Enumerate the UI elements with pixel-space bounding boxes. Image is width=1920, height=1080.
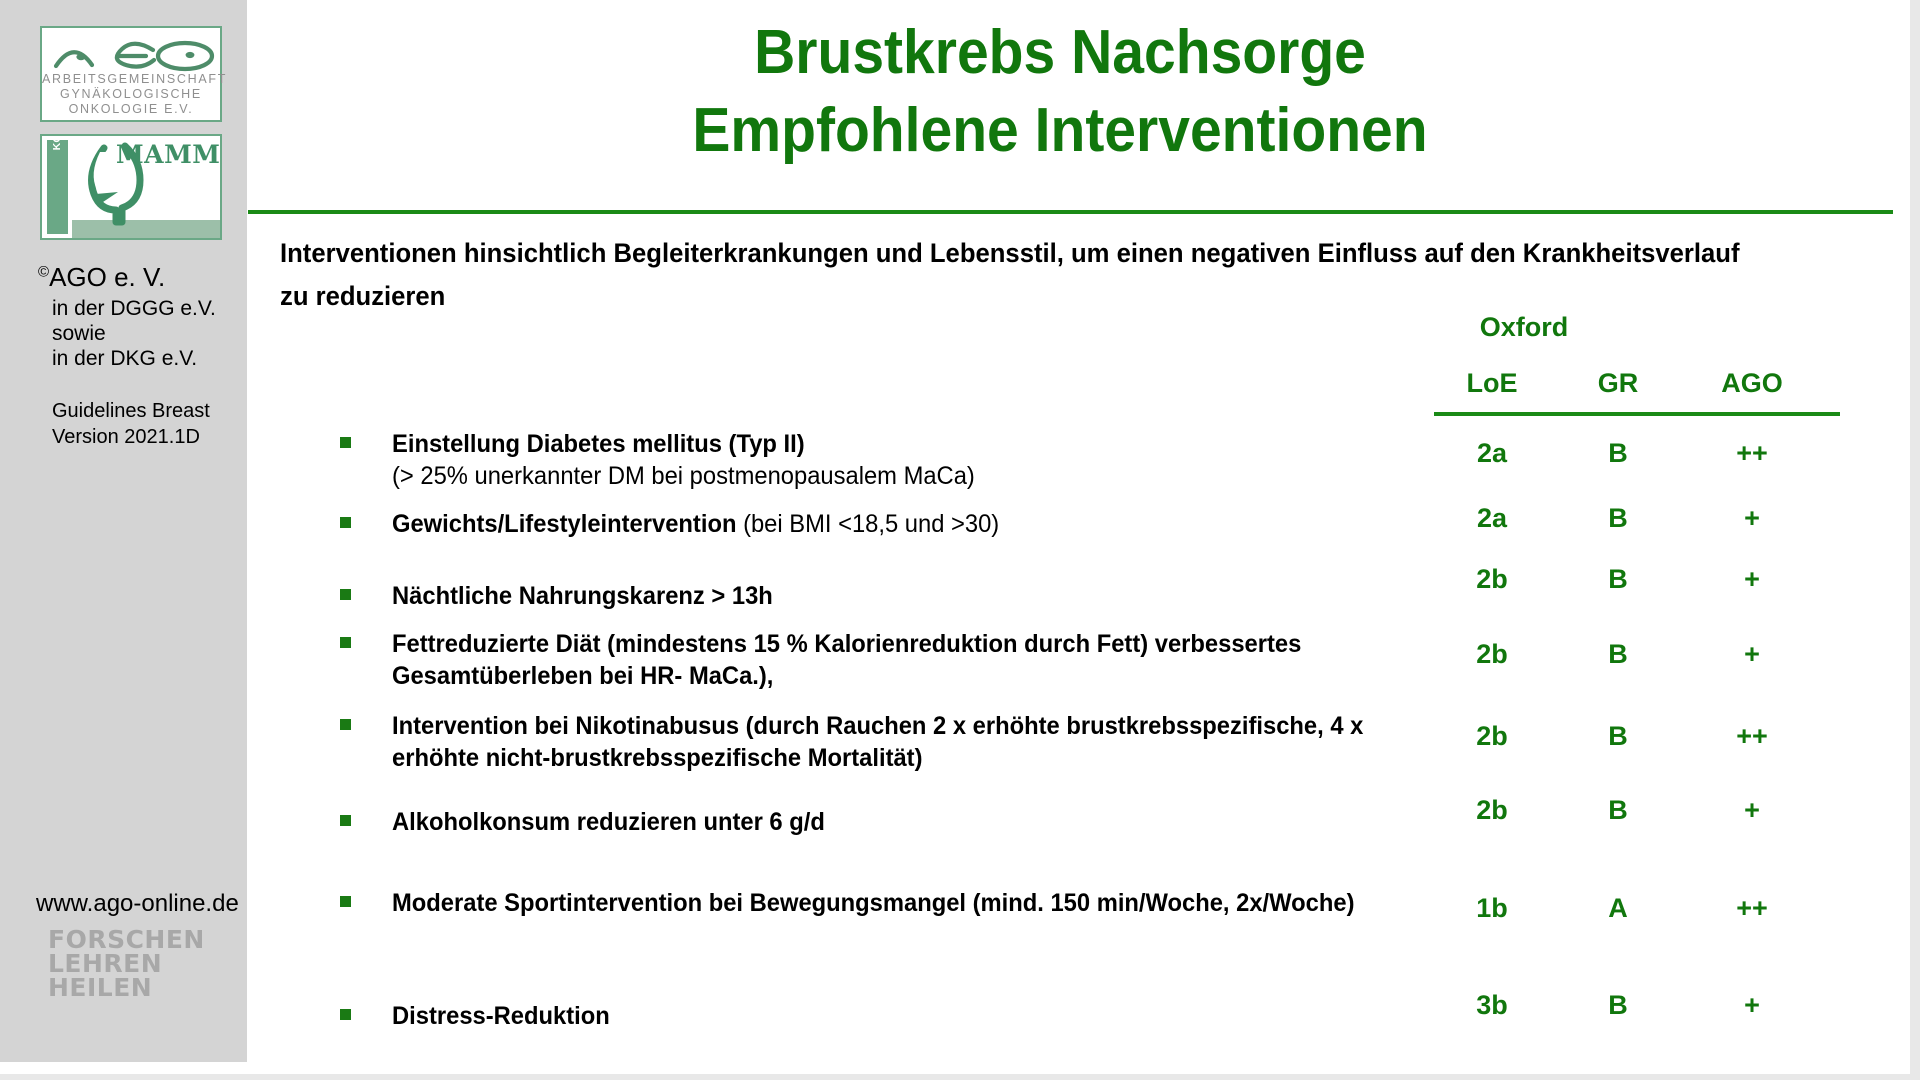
copyright-line: ©AGO e. V.	[38, 262, 165, 293]
cell-loe: 2b	[1434, 564, 1550, 595]
list-item-regular: (bei BMI <18,5 und >30)	[743, 510, 999, 538]
list-item-bold: Nächtliche Nahrungskarenz > 13h	[392, 582, 773, 610]
list-item-text: Intervention bei Nikotinabusus (durch Ra…	[392, 710, 1371, 774]
list-item-text: Distress-Reduktion	[392, 1000, 1371, 1032]
bullet-marker-icon	[340, 815, 351, 826]
ago-wordmark-icon	[42, 30, 220, 76]
cell-ago: +	[1686, 990, 1818, 1021]
ago-sub-line3: ONKOLOGIE E.V.	[42, 102, 220, 117]
list-item-regular: (> 25% unerkannter DM bei postmenopausal…	[392, 462, 975, 490]
list-item-bold: Moderate Sportintervention bei Bewegungs…	[392, 889, 1354, 917]
table-header-divider	[1434, 412, 1840, 416]
table-row: 2b B +	[1434, 564, 1840, 598]
slide: ARBEITSGEMEINSCHAFT GYNÄKOLOGISCHE ONKOL…	[0, 0, 1920, 1080]
title-line-2: Empfohlene Interventionen	[315, 92, 1805, 170]
ago-sub-line2: GYNÄKOLOGISCHE	[42, 87, 220, 102]
column-header-ago: AGO	[1686, 368, 1818, 399]
cell-ago: ++	[1686, 438, 1818, 469]
table-row: 2b B +	[1434, 795, 1840, 829]
cell-ago: ++	[1686, 721, 1818, 752]
cell-ago: +	[1686, 795, 1818, 826]
mamma-kommission-logo: KOMMISSION MAMMA	[40, 134, 222, 240]
copyright-text: AGO e. V.	[49, 262, 165, 292]
table-row: 3b B +	[1434, 990, 1840, 1024]
cell-loe: 2b	[1434, 639, 1550, 670]
table-row: 1b A ++	[1434, 893, 1840, 927]
page-title: Brustkrebs Nachsorge Empfohlene Interven…	[315, 14, 1805, 170]
bullet-marker-icon	[340, 637, 351, 648]
list-item-text: Gewichts/Lifestyleintervention (bei BMI …	[392, 508, 1371, 540]
list-item-text: Einstellung Diabetes mellitus (Typ II) (…	[392, 428, 1371, 492]
table-row: 2b B ++	[1434, 721, 1840, 755]
cell-ago: ++	[1686, 893, 1818, 924]
cell-ago: +	[1686, 564, 1818, 595]
cell-loe: 2b	[1434, 795, 1550, 826]
ago-logo: ARBEITSGEMEINSCHAFT GYNÄKOLOGISCHE ONKOL…	[40, 26, 222, 122]
cell-loe: 2a	[1434, 438, 1550, 469]
list-item-text: Alkoholkonsum reduzieren unter 6 g/d	[392, 806, 1371, 838]
cell-loe: 2b	[1434, 721, 1550, 752]
title-divider	[248, 210, 1893, 214]
cell-gr: B	[1560, 503, 1676, 534]
title-line-1: Brustkrebs Nachsorge	[315, 14, 1805, 92]
cell-loe: 1b	[1434, 893, 1550, 924]
oxford-group-header: Oxford	[1434, 312, 1614, 343]
column-header-loe: LoE	[1434, 368, 1550, 399]
guidelines-version: Guidelines Breast Version 2021.1D	[52, 398, 210, 450]
affiliation-text: in der DGGG e.V. sowie in der DKG e.V.	[52, 296, 216, 371]
cell-gr: A	[1560, 893, 1676, 924]
kommission-label: KOMMISSION	[47, 134, 68, 161]
bullet-marker-icon	[340, 896, 351, 907]
cell-ago: +	[1686, 639, 1818, 670]
cell-gr: B	[1560, 721, 1676, 752]
copyright-mark: ©	[38, 263, 49, 280]
list-item-text: Nächtliche Nahrungskarenz > 13h	[392, 580, 1371, 612]
ago-logo-subtitle: ARBEITSGEMEINSCHAFT GYNÄKOLOGISCHE ONKOL…	[42, 72, 220, 117]
cell-gr: B	[1560, 795, 1676, 826]
list-item-text: Moderate Sportintervention bei Bewegungs…	[392, 876, 1371, 931]
bullet-marker-icon	[340, 437, 351, 448]
bullet-marker-icon	[340, 719, 351, 730]
motto-text: FORSCHEN LEHREN HEILEN	[48, 928, 205, 1000]
subtitle: Interventionen hinsichtlich Begleiterkra…	[280, 232, 1743, 318]
list-item-bold: Einstellung Diabetes mellitus (Typ II)	[392, 430, 805, 458]
mamma-title: MAMMA	[116, 140, 222, 169]
cell-gr: B	[1560, 438, 1676, 469]
sidebar: ARBEITSGEMEINSCHAFT GYNÄKOLOGISCHE ONKOL…	[0, 0, 247, 1062]
list-item-text: Fettreduzierte Diät (mindestens 15 % Kal…	[392, 628, 1371, 692]
table-row: 2b B +	[1434, 639, 1840, 673]
bullet-marker-icon	[340, 517, 351, 528]
website-url[interactable]: www.ago-online.de	[36, 890, 239, 918]
ago-sub-line1: ARBEITSGEMEINSCHAFT	[42, 72, 220, 87]
bullet-marker-icon	[340, 589, 351, 600]
list-item-bold: Fettreduzierte Diät (mindestens 15 % Kal…	[392, 630, 1301, 690]
list-item-bold: Distress-Reduktion	[392, 1002, 610, 1030]
cell-loe: 3b	[1434, 990, 1550, 1021]
cell-gr: B	[1560, 564, 1676, 595]
bullet-marker-icon	[340, 1009, 351, 1020]
column-header-gr: GR	[1560, 368, 1676, 399]
cell-gr: B	[1560, 990, 1676, 1021]
list-item-bold: Intervention bei Nikotinabusus (durch Ra…	[392, 712, 1363, 772]
list-item-bold: Gewichts/Lifestyleintervention	[392, 510, 736, 538]
cell-loe: 2a	[1434, 503, 1550, 534]
cell-gr: B	[1560, 639, 1676, 670]
table-row: 2a B +	[1434, 503, 1840, 537]
list-item-bold: Alkoholkonsum reduzieren unter 6 g/d	[392, 808, 825, 836]
cell-ago: +	[1686, 503, 1818, 534]
mamma-logo-inner: KOMMISSION MAMMA	[42, 136, 220, 238]
table-row: 2a B ++	[1434, 438, 1840, 472]
